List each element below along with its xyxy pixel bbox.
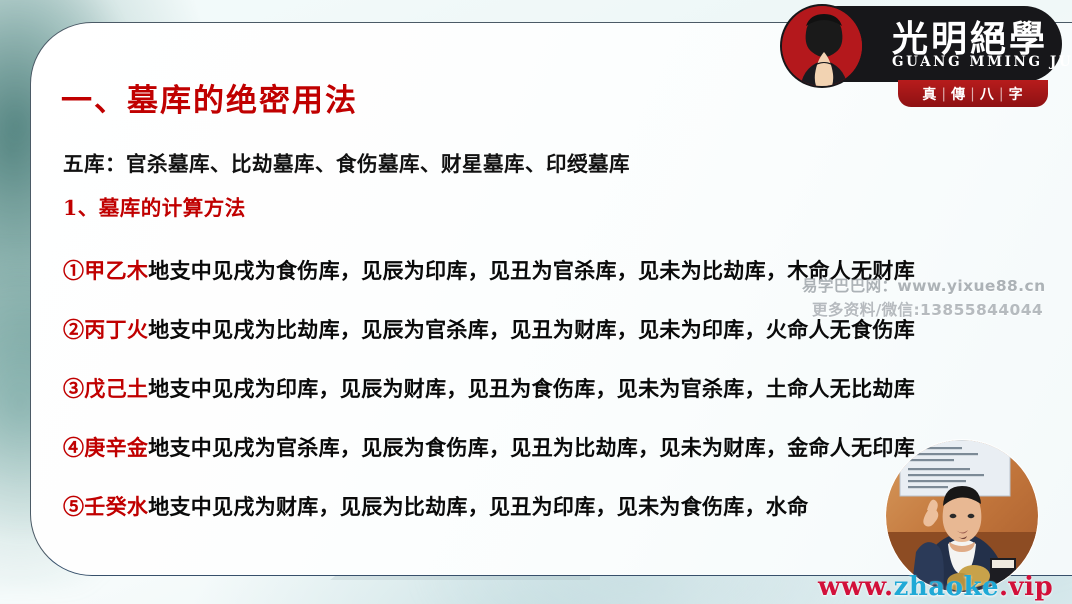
logo-portrait-icon (780, 4, 864, 88)
logo-badge-char: 八 (980, 84, 995, 104)
rule-prefix: ⑤壬癸水 (63, 494, 148, 519)
brand-logo: 光明絕學 GUANG MMING JUE XUE 真|傳|八|字 (780, 4, 1066, 108)
rule-prefix: ④庚辛金 (63, 435, 148, 460)
rule-body: 地支中见戌为食伤库，见辰为印库，见丑为官杀库，见未为比劫库，木命人无财库 (148, 258, 915, 283)
list-item: ①甲乙木地支中见戌为食伤库，见辰为印库，见丑为官杀库，见未为比劫库，木命人无财库 (63, 241, 1063, 300)
list-item: ③戊己土地支中见戌为印库，见辰为财库，见丑为食伤库，见未为官杀库，土命人无比劫库 (63, 359, 1063, 418)
url-scheme-part: www. (818, 572, 894, 602)
rule-body: 地支中见戌为比劫库，见辰为官杀库，见丑为财库，见未为印库，火命人无食伤库 (148, 317, 915, 342)
badge-divider: | (999, 86, 1005, 102)
list-item: ②丙丁火地支中见戌为比劫库，见辰为官杀库，见丑为财库，见未为印库，火命人无食伤库 (63, 300, 1063, 359)
rule-body: 地支中见戌为财库，见辰为比劫库，见丑为印库，见未为食伤库，水命 (148, 494, 808, 519)
rule-prefix: ①甲乙木 (63, 258, 148, 283)
rule-prefix: ②丙丁火 (63, 317, 148, 342)
footer-url[interactable]: www.zhaoke.vip (818, 572, 1053, 602)
section-label-calculation-method: 1、墓库的计算方法 (63, 191, 246, 221)
rule-body: 地支中见戌为印库，见辰为财库，见丑为食伤库，见未为官杀库，土命人无比劫库 (148, 376, 915, 401)
logo-badge-char: 真 (922, 84, 937, 104)
page-title: 一、墓库的绝密用法 (61, 75, 358, 120)
rule-body: 地支中见戌为官杀库，见辰为食伤库，见丑为比劫库，见未为财库，金命人无印库 (148, 435, 915, 460)
url-tld-part: .vip (999, 572, 1053, 602)
badge-divider: | (970, 86, 976, 102)
logo-badge-char: 傳 (951, 84, 966, 104)
logo-badge-char: 字 (1009, 84, 1024, 104)
presenter-webcam[interactable] (886, 440, 1038, 592)
logo-pinyin-text: GUANG MMING JUE XUE (892, 54, 1072, 70)
slide-stage: 一、墓库的绝密用法 五库：官杀墓库、比劫墓库、食伤墓库、财星墓库、印绶墓库 1、… (0, 0, 1072, 604)
badge-divider: | (941, 86, 947, 102)
logo-badge: 真|傳|八|字 (898, 80, 1048, 107)
rule-prefix: ③戊己土 (63, 376, 148, 401)
url-name-part: zhaoke (894, 572, 999, 602)
webcam-video-frame (886, 440, 1038, 592)
subtitle-five-storehouses: 五库：官杀墓库、比劫墓库、食伤墓库、财星墓库、印绶墓库 (63, 147, 630, 177)
